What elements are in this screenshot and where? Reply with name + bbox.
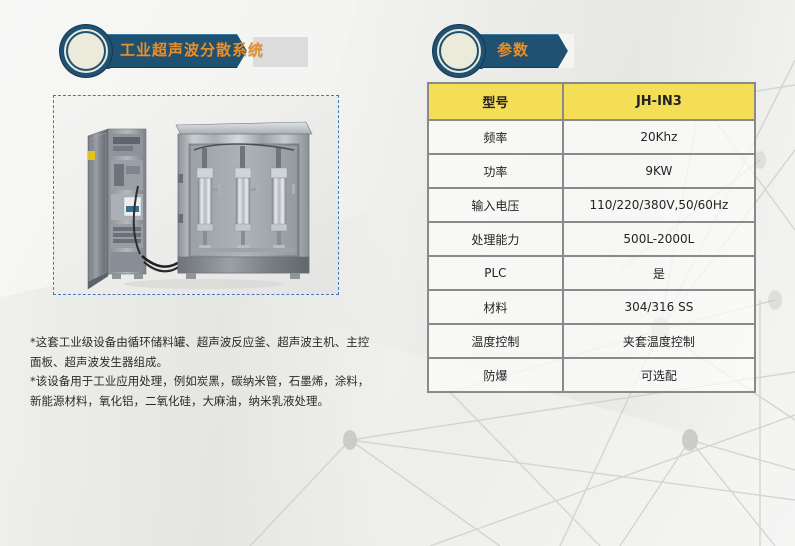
specification-table: 型号 JH-IN3 频率 20Khz 功率 9KW 输入电压 110/220/3…: [427, 82, 756, 393]
spec-value: 9KW: [563, 154, 755, 188]
spec-label: 温度控制: [428, 324, 563, 358]
spec-value: 500L-2000L: [563, 222, 755, 256]
table-row: 材料 304/316 SS: [428, 290, 755, 324]
spec-header-label: 型号: [428, 83, 563, 120]
product-photo: [54, 96, 338, 294]
table-row: 防爆 可选配: [428, 358, 755, 392]
spec-label: 处理能力: [428, 222, 563, 256]
table-row: PLC 是: [428, 256, 755, 290]
product-photo-frame: [53, 95, 339, 295]
spec-table-header-row: 型号 JH-IN3: [428, 83, 755, 120]
spec-label: 材料: [428, 290, 563, 324]
circle-badge-icon: [60, 25, 112, 77]
table-row: 频率 20Khz: [428, 120, 755, 154]
spec-label: PLC: [428, 256, 563, 290]
spec-value: 110/220/380V,50/60Hz: [563, 188, 755, 222]
spec-header-value: JH-IN3: [563, 83, 755, 120]
spec-value: 可选配: [563, 358, 755, 392]
section-title-left: 工业超声波分散系统: [120, 34, 264, 68]
badge-inner-disc: [68, 33, 104, 69]
spec-table-body: 型号 JH-IN3 频率 20Khz 功率 9KW 输入电压 110/220/3…: [428, 83, 755, 392]
spec-label: 频率: [428, 120, 563, 154]
table-row: 温度控制 夹套温度控制: [428, 324, 755, 358]
spec-label: 输入电压: [428, 188, 563, 222]
table-row: 功率 9KW: [428, 154, 755, 188]
description-line-1: *这套工业级设备由循环储料罐、超声波反应釜、超声波主机、主控面板、超声波发生器组…: [30, 333, 380, 372]
section-banner-right: 参数: [425, 34, 625, 68]
spec-label: 功率: [428, 154, 563, 188]
table-row: 输入电压 110/220/380V,50/60Hz: [428, 188, 755, 222]
spec-value: 夹套温度控制: [563, 324, 755, 358]
poster-page: 工业超声波分散系统: [0, 0, 795, 546]
description-block: *这套工业级设备由循环储料罐、超声波反应釜、超声波主机、主控面板、超声波发生器组…: [30, 333, 380, 411]
section-title-right: 参数: [497, 34, 529, 68]
spec-value: 20Khz: [563, 120, 755, 154]
section-banner-left: 工业超声波分散系统: [52, 34, 312, 68]
spec-value: 是: [563, 256, 755, 290]
badge-inner-disc: [441, 33, 477, 69]
spec-value: 304/316 SS: [563, 290, 755, 324]
spec-label: 防爆: [428, 358, 563, 392]
circle-badge-icon: [433, 25, 485, 77]
table-row: 处理能力 500L-2000L: [428, 222, 755, 256]
description-line-2: *该设备用于工业应用处理，例如炭黑，碳纳米管，石墨烯，涂料，新能源材料，氧化铝，…: [30, 372, 380, 411]
